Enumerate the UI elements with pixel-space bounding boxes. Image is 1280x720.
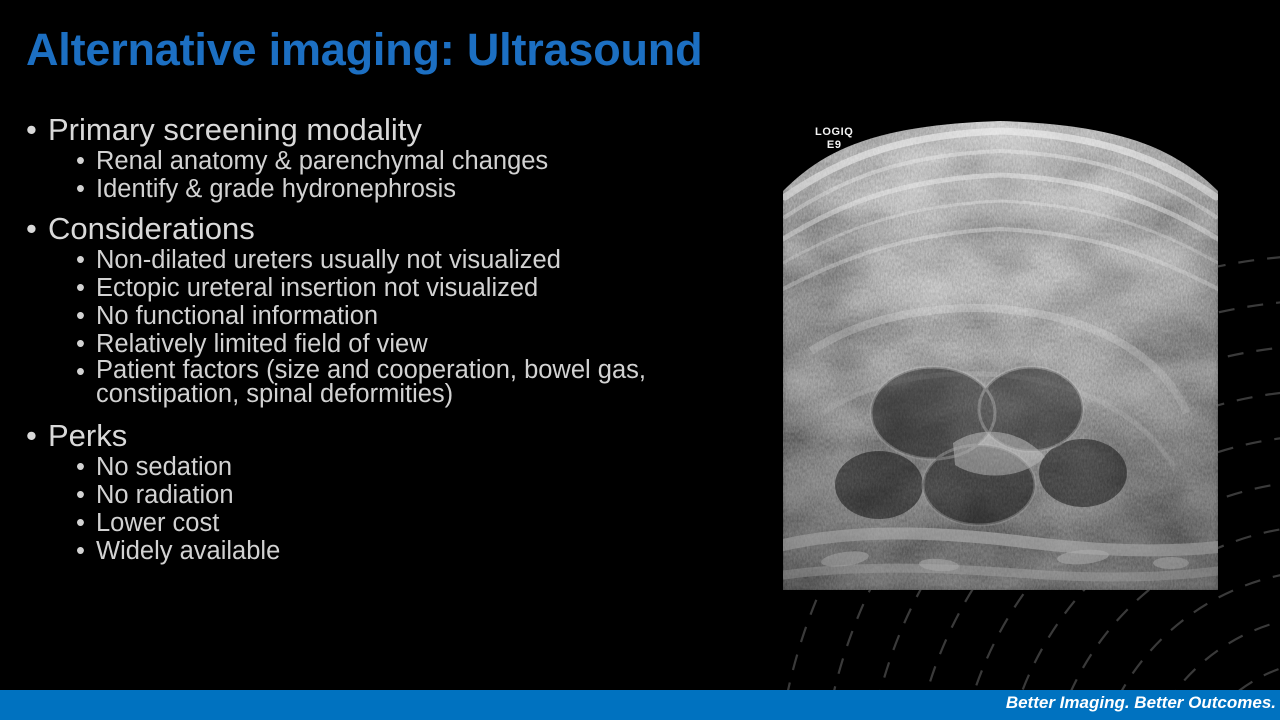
bullet-level2-no-sedation: • No sedation: [20, 454, 780, 480]
bullet-level2-label: Patient factors (size and cooperation, b…: [96, 356, 646, 408]
bullet-group-perks: • Perks • No sedation • No radiation • L…: [20, 420, 780, 564]
bullet-level1-label: Perks: [48, 418, 127, 453]
bullet-group-considerations: • Considerations • Non-dilated ureters u…: [20, 213, 780, 407]
bullet-level2-ectopic-insertion: • Ectopic ureteral insertion not visuali…: [20, 275, 780, 301]
bullet-group-primary-screening: • Primary screening modality • Renal ana…: [20, 114, 780, 202]
bullet-dot-icon: •: [26, 420, 37, 451]
bullet-level2-label: Ectopic ureteral insertion not visualize…: [96, 274, 538, 302]
bullet-dot-icon: •: [76, 275, 85, 301]
slide-title: Alternative imaging: Ultrasound: [26, 24, 702, 76]
sublist-perks: • No sedation • No radiation • Lower cos…: [20, 454, 780, 564]
bullet-dot-icon: •: [76, 538, 85, 564]
bullet-level2-label: Widely available: [96, 537, 280, 565]
bullet-dot-icon: •: [76, 454, 85, 480]
bullet-level2-no-radiation: • No radiation: [20, 482, 780, 508]
bullet-level2-label: Lower cost: [96, 509, 219, 537]
sublist-considerations: • Non-dilated ureters usually not visual…: [20, 247, 780, 407]
bullet-dot-icon: •: [76, 359, 85, 385]
sublist-primary-screening: • Renal anatomy & parenchymal changes • …: [20, 148, 780, 202]
bullet-level1-label: Considerations: [48, 211, 255, 246]
bullet-dot-icon: •: [76, 247, 85, 273]
bullet-level2-patient-factors: • Patient factors (size and cooperation,…: [20, 359, 780, 407]
bullet-level1-considerations: • Considerations: [20, 213, 780, 244]
slide-canvas: Alternative imaging: Ultrasound • Primar…: [0, 0, 1280, 720]
bullet-level2-label: Relatively limited field of view: [96, 330, 428, 358]
bullet-dot-icon: •: [76, 176, 85, 202]
footer-tagline: Better Imaging. Better Outcomes.: [1006, 693, 1276, 713]
bullet-dot-icon: •: [26, 114, 37, 145]
bullet-level2-label: Non-dilated ureters usually not visualiz…: [96, 246, 561, 274]
bullet-dot-icon: •: [76, 331, 85, 357]
bullet-level1-primary-screening: • Primary screening modality: [20, 114, 780, 145]
bullet-dot-icon: •: [76, 482, 85, 508]
bullet-dot-icon: •: [76, 303, 85, 329]
bullet-level2-label: No radiation: [96, 481, 234, 509]
bullet-level2-no-functional-info: • No functional information: [20, 303, 780, 329]
bullet-level2-lower-cost: • Lower cost: [20, 510, 780, 536]
bullet-list: • Primary screening modality • Renal ana…: [20, 110, 780, 564]
bullet-level2-label: No sedation: [96, 453, 232, 481]
bullet-dot-icon: •: [76, 148, 85, 174]
footer-bar: Better Imaging. Better Outcomes.: [0, 690, 1280, 720]
bullet-level2-label: No functional information: [96, 302, 378, 330]
bullet-level2-non-dilated-ureters: • Non-dilated ureters usually not visual…: [20, 247, 780, 273]
bullet-level2-renal-anatomy: • Renal anatomy & parenchymal changes: [20, 148, 780, 174]
bullet-dot-icon: •: [76, 510, 85, 536]
ultrasound-machine-label: LOGIQ E9: [815, 126, 853, 151]
bullet-level2-hydronephrosis: • Identify & grade hydronephrosis: [20, 176, 780, 202]
bullet-level2-label: Renal anatomy & parenchymal changes: [96, 147, 548, 175]
bullet-level1-label: Primary screening modality: [48, 112, 422, 147]
bullet-level2-widely-available: • Widely available: [20, 538, 780, 564]
ultrasound-image: LOGIQ E9: [783, 113, 1218, 590]
bullet-dot-icon: •: [26, 213, 37, 244]
bullet-level2-label: Identify & grade hydronephrosis: [96, 175, 456, 203]
bullet-level1-perks: • Perks: [20, 420, 780, 451]
bullet-level2-limited-field-of-view: • Relatively limited field of view: [20, 331, 780, 357]
